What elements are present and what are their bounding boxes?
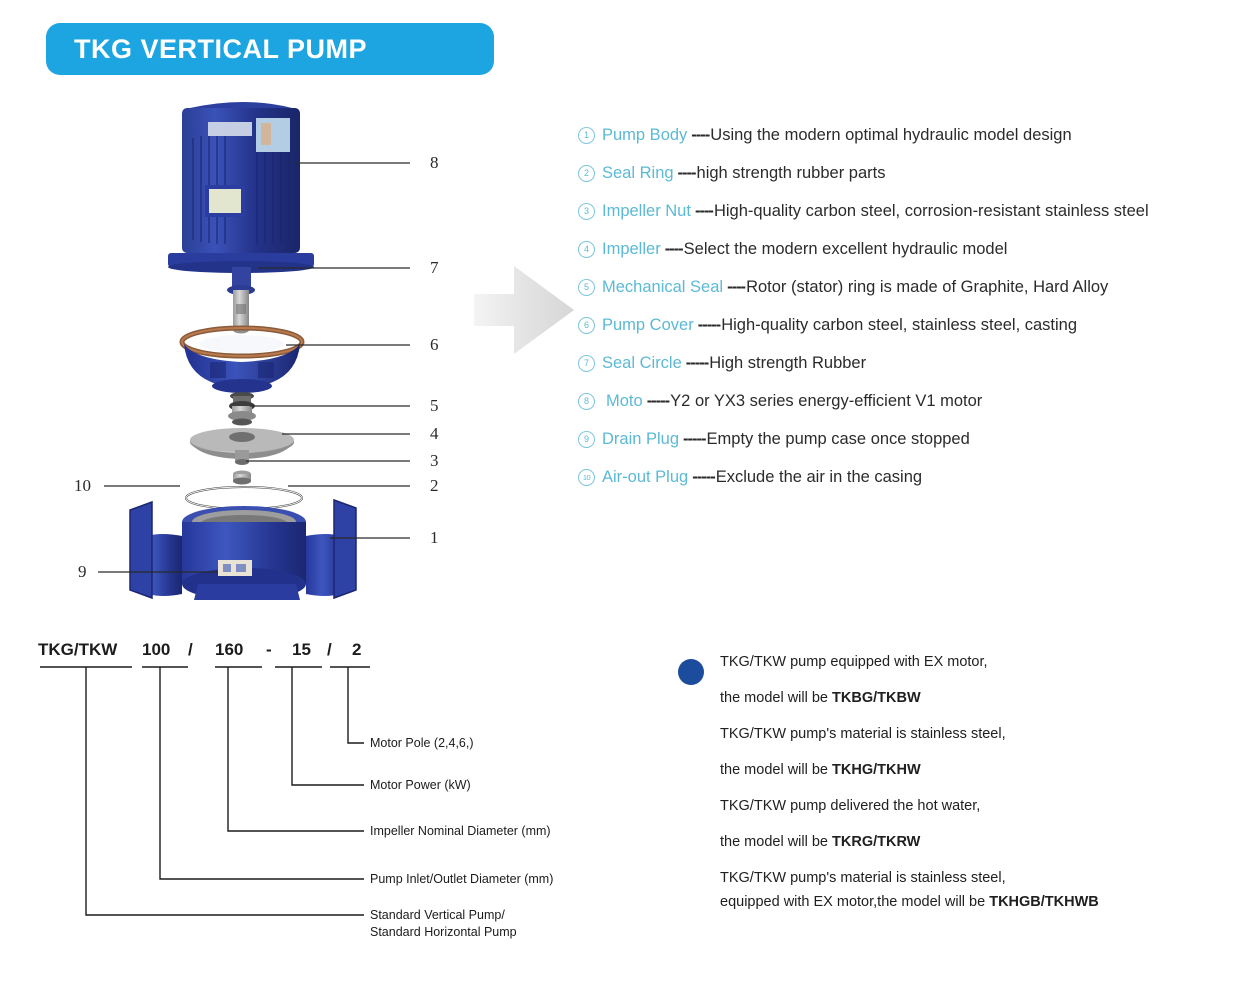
legend-item-moto: 8 Moto ----- Y2 or YX3 series energy-eff…: [578, 392, 1228, 430]
callout-number-7: 7: [430, 258, 439, 278]
legend-number-circle-5: 5: [578, 279, 595, 296]
model-label-inlet-outlet-dia: Pump Inlet/Outlet Diameter (mm): [370, 871, 553, 888]
legend-part-name-10: Air-out Plug: [602, 468, 688, 487]
callout-number-8: 8: [430, 153, 439, 173]
legend-part-name-7: Seal Circle: [602, 354, 682, 373]
callout-number-3: 3: [430, 451, 439, 471]
model-code-leader-lines: [30, 640, 620, 960]
legend-dashes-9: -----: [683, 430, 705, 449]
legend-description-2: high strength rubber parts: [697, 164, 886, 183]
variant-note-line-8: equipped with EX motor,the model will be…: [720, 895, 1218, 931]
variant-note-text-4: the model will be: [720, 762, 832, 778]
impeller-part: [190, 428, 294, 465]
callout-number-6: 6: [430, 335, 439, 355]
legend-description-9: Empty the pump case once stopped: [707, 430, 970, 449]
legend-dashes-8: -----: [647, 392, 669, 411]
legend-dashes-7: -----: [686, 354, 708, 373]
legend-dashes-2: ----: [678, 164, 696, 183]
variant-note-text-3: TKG/TKW pump's material is stainless ste…: [720, 726, 1006, 742]
legend-item-drain-plug: 9 Drain Plug ----- Empty the pump case o…: [578, 430, 1228, 468]
legend-item-seal-circle: 7 Seal Circle ----- High strength Rubber: [578, 354, 1228, 392]
variant-note-line-3: TKG/TKW pump's material is stainless ste…: [720, 727, 1218, 763]
legend-dashes-10: -----: [692, 468, 714, 487]
legend-description-1: Using the modern optimal hydraulic model…: [710, 126, 1071, 145]
right-arrow-icon: [474, 256, 578, 364]
pump-cover-part: [182, 328, 302, 393]
legend-number-circle-1: 1: [578, 127, 595, 144]
legend-number-circle-6: 6: [578, 317, 595, 334]
variant-note-line-4: the model will be TKHG/TKHW: [720, 763, 1218, 799]
legend-number-circle-3: 3: [578, 203, 595, 220]
callout-number-9: 9: [78, 562, 87, 582]
variant-note-line-1: TKG/TKW pump equipped with EX motor,: [720, 655, 1218, 691]
model-label-standard-vertical: Standard Vertical Pump/: [370, 907, 505, 924]
legend-part-name-9: Drain Plug: [602, 430, 679, 449]
legend-item-pump-body: 1 Pump Body ---- Using the modern optima…: [578, 126, 1228, 164]
variant-note-text-1: TKG/TKW pump equipped with EX motor,: [720, 654, 988, 670]
legend-description-10: Exclude the air in the casing: [716, 468, 922, 487]
legend-part-name-4: Impeller: [602, 240, 661, 259]
callout-number-10: 10: [74, 476, 91, 496]
legend-number-circle-4: 4: [578, 241, 595, 258]
legend-item-impeller-nut: 3 Impeller Nut ---- High-quality carbon …: [578, 202, 1228, 240]
legend-dashes-5: ----: [727, 278, 745, 297]
legend-number-circle-9: 9: [578, 431, 595, 448]
model-label-standard-horizontal: Standard Horizontal Pump: [370, 924, 517, 941]
variant-note-text-6: the model will be: [720, 834, 832, 850]
legend-item-impeller: 4 Impeller ---- Select the modern excell…: [578, 240, 1228, 278]
callout-number-4: 4: [430, 424, 439, 444]
legend-part-name-2: Seal Ring: [602, 164, 674, 183]
variant-note-text-5: TKG/TKW pump delivered the hot water,: [720, 798, 980, 814]
impeller-nut-part: [233, 471, 251, 485]
model-label-impeller-dia: Impeller Nominal Diameter (mm): [370, 823, 551, 840]
variant-model-code-2: TKBG/TKBW: [832, 690, 921, 706]
variant-model-code-4: TKHG/TKHW: [832, 762, 921, 778]
page-title: TKG VERTICAL PUMP: [74, 34, 367, 65]
page-title-banner: TKG VERTICAL PUMP: [46, 23, 494, 75]
callout-number-1: 1: [430, 528, 439, 548]
legend-part-name-3: Impeller Nut: [602, 202, 691, 221]
callout-number-2: 2: [430, 476, 439, 496]
legend-dashes-1: ----: [691, 126, 709, 145]
model-label-motor-pole: Motor Pole (2,4,6,): [370, 735, 474, 752]
variant-note-line-2: the model will be TKBG/TKBW: [720, 691, 1218, 727]
variant-note-text-8: equipped with EX motor,the model will be: [720, 894, 989, 910]
seal-ring-part: [186, 487, 302, 509]
parts-legend-list: 1 Pump Body ---- Using the modern optima…: [578, 126, 1228, 506]
motor-part: [168, 102, 314, 289]
drain-plug-part: [192, 584, 304, 600]
model-code-breakdown: TKG/TKW 100 / 160 - 15 / 2 Motor Pole (2…: [30, 640, 620, 960]
legend-part-name-6: Pump Cover: [602, 316, 694, 335]
variant-note-text-2: the model will be: [720, 690, 832, 706]
legend-part-name-8: Moto: [606, 392, 643, 411]
legend-description-3: High-quality carbon steel, corrosion-res…: [714, 202, 1149, 221]
legend-description-8: Y2 or YX3 series energy-efficient V1 mot…: [670, 392, 982, 411]
legend-description-5: Rotor (stator) ring is made of Graphite,…: [746, 278, 1108, 297]
legend-number-circle-2: 2: [578, 165, 595, 182]
legend-number-circle-8: 8: [578, 393, 595, 410]
mechanical-seal-part: [228, 392, 256, 426]
legend-part-name-1: Pump Body: [602, 126, 687, 145]
legend-item-pump-cover: 6 Pump Cover ----- High-quality carbon s…: [578, 316, 1228, 354]
legend-description-6: High-quality carbon steel, stainless ste…: [721, 316, 1077, 335]
legend-part-name-5: Mechanical Seal: [602, 278, 723, 297]
variant-note-line-6: the model will be TKRG/TKRW: [720, 835, 1218, 871]
legend-item-seal-ring: 2 Seal Ring ---- high strength rubber pa…: [578, 164, 1228, 202]
legend-dashes-3: ----: [695, 202, 713, 221]
variant-model-code-8: TKHGB/TKHWB: [989, 894, 1099, 910]
legend-description-4: Select the modern excellent hydraulic mo…: [684, 240, 1008, 259]
legend-item-air-out-plug: 10 Air-out Plug ----- Exclude the air in…: [578, 468, 1228, 506]
variant-notes-block: TKG/TKW pump equipped with EX motor, the…: [678, 655, 1218, 931]
legend-number-circle-7: 7: [578, 355, 595, 372]
legend-dashes-4: ----: [665, 240, 683, 259]
variant-model-code-6: TKRG/TKRW: [832, 834, 920, 850]
exploded-pump-illustration: [60, 90, 520, 600]
bullet-dot-icon: [678, 659, 704, 685]
model-label-motor-power: Motor Power (kW): [370, 777, 471, 794]
variant-note-line-7: TKG/TKW pump's material is stainless ste…: [720, 871, 1218, 895]
legend-number-circle-10: 10: [578, 469, 595, 486]
variant-note-text-7: TKG/TKW pump's material is stainless ste…: [720, 870, 1006, 886]
callout-number-5: 5: [430, 396, 439, 416]
legend-dashes-6: -----: [698, 316, 720, 335]
legend-item-mechanical-seal: 5 Mechanical Seal ---- Rotor (stator) ri…: [578, 278, 1228, 316]
variant-note-line-5: TKG/TKW pump delivered the hot water,: [720, 799, 1218, 835]
legend-description-7: High strength Rubber: [709, 354, 866, 373]
